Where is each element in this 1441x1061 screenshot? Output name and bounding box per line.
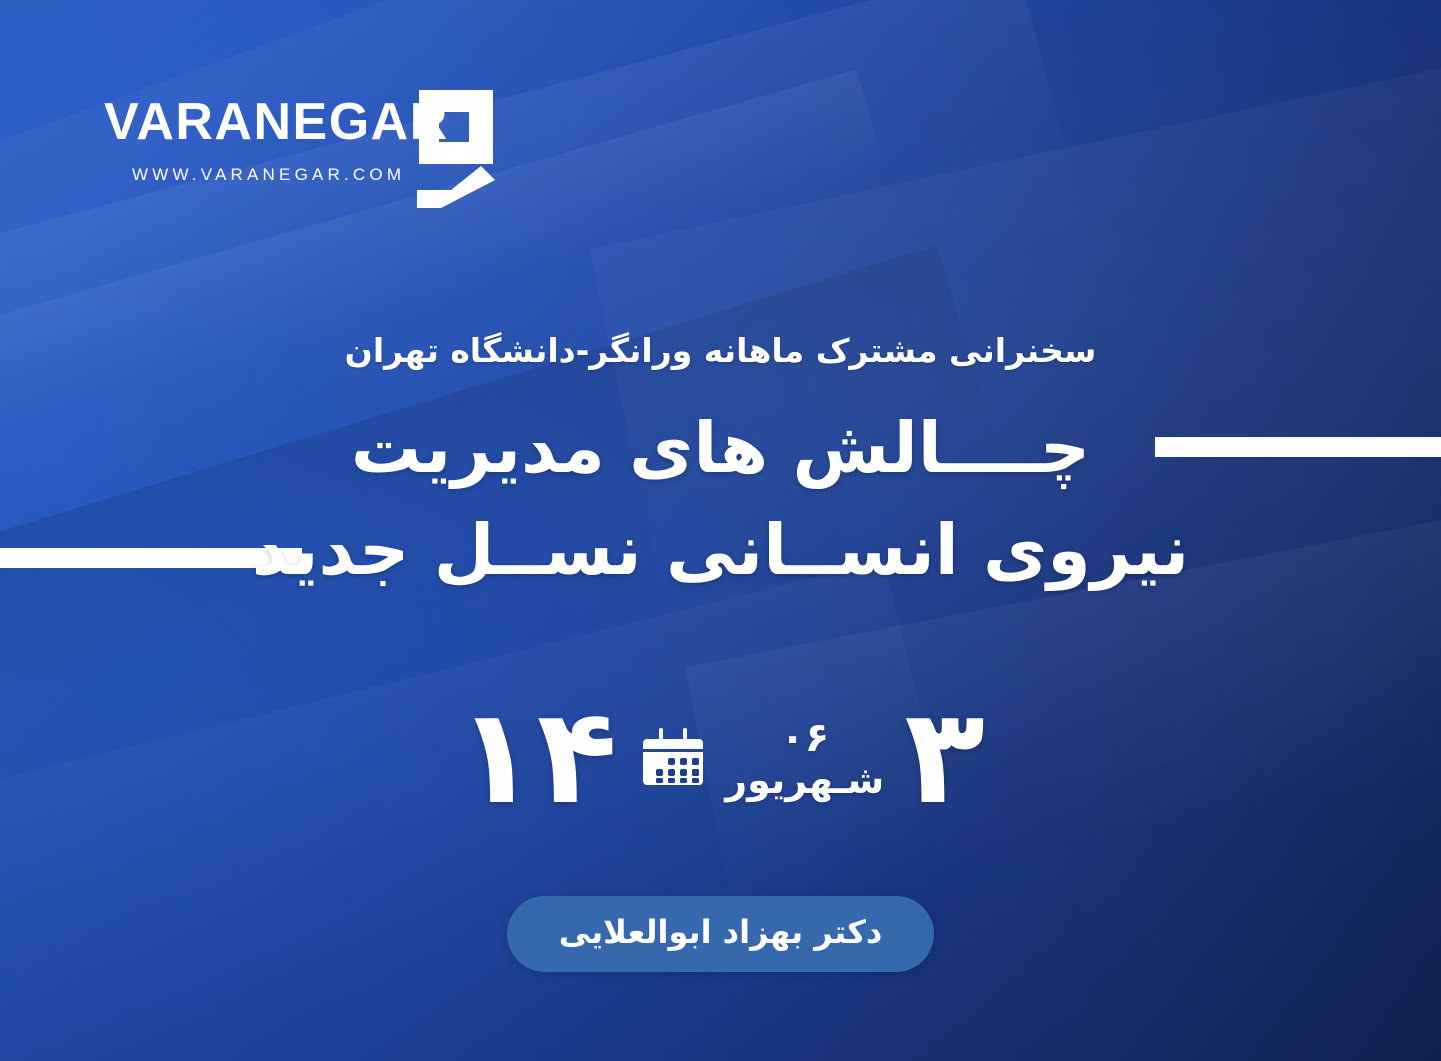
date-month-number: ۰۶: [780, 718, 829, 758]
event-subtitle: سخنرانی مشترک ماهانه ورانگر-دانشگاه تهرا…: [0, 330, 1441, 371]
brand-logo[interactable]: VARANEGAR WWW.VARANEGAR.COM: [104, 86, 504, 210]
speaker-section: دکتر بهزاد ابوالعلایی: [0, 896, 1441, 972]
date-day: ۳: [904, 691, 985, 823]
event-title-line-2: نیروی انســانی نســل جدید: [0, 512, 1441, 589]
event-date: ۳ ۰۶ شـهریور ۱۴: [0, 672, 1441, 842]
speaker-name-badge[interactable]: دکتر بهزاد ابوالعلایی: [507, 896, 935, 972]
event-title-line-1: چــــالش های مدیریت: [0, 410, 1441, 487]
date-month-name: شـهریور: [725, 760, 884, 802]
date-month-group: ۰۶ شـهریور: [725, 712, 884, 802]
varanegar-square-mark-icon: [411, 86, 501, 210]
logo-website-url: WWW.VARANEGAR.COM: [132, 166, 405, 183]
date-year: ۱۴: [456, 691, 617, 823]
logo-wordmark: VARANEGAR: [104, 96, 449, 148]
calendar-icon: [641, 725, 705, 789]
event-poster: VARANEGAR WWW.VARANEGAR.COM سخنرانی مشتر…: [0, 0, 1441, 1061]
